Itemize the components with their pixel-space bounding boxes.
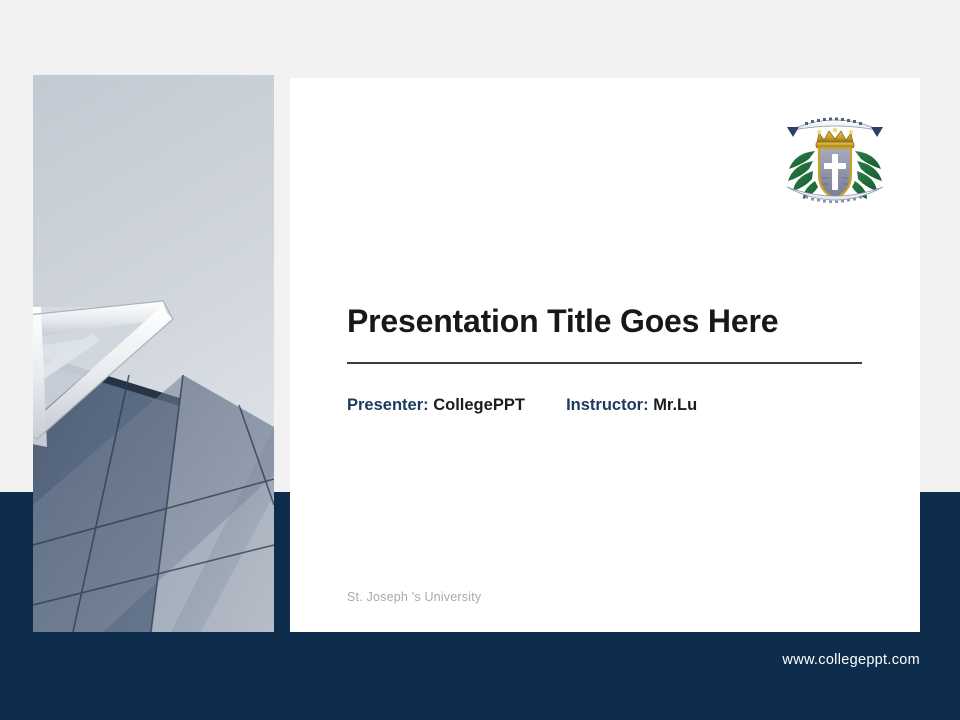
byline: Presenter: CollegePPT Instructor: Mr.Lu — [347, 396, 697, 415]
instructor-label: Instructor: — [566, 396, 649, 414]
title-divider — [347, 362, 862, 364]
title-block: Presentation Title Goes Here — [347, 303, 867, 364]
presenter-value: CollegePPT — [433, 396, 525, 414]
crest-shield — [819, 148, 851, 199]
crest-illustration — [779, 107, 891, 211]
instructor-value: Mr.Lu — [653, 396, 697, 414]
presentation-slide: Presentation Title Goes Here Presenter: … — [0, 0, 960, 720]
crest-top-ribbon — [787, 118, 883, 138]
website-url: www.collegeppt.com — [782, 652, 920, 668]
modern-architecture-photo — [33, 75, 274, 632]
organization-name: St. Joseph 's University — [347, 590, 481, 604]
crest-crown — [816, 128, 854, 148]
architecture-illustration — [33, 75, 274, 632]
page-title: Presentation Title Goes Here — [347, 303, 867, 340]
university-crest — [779, 107, 891, 211]
presenter-label: Presenter: — [347, 396, 429, 414]
